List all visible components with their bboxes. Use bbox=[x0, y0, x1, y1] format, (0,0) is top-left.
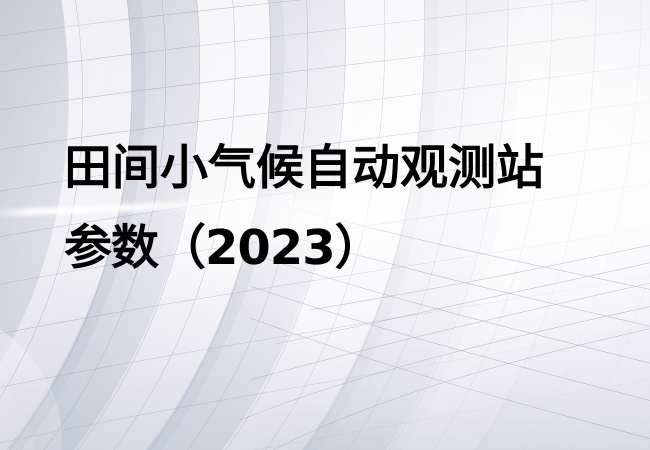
title-slide: 田间小气候自动观测站 参数（2023） bbox=[0, 0, 650, 450]
slide-title-line-2: 参数（2023） bbox=[64, 208, 624, 288]
slide-title-line-1: 田间小气候自动观测站 bbox=[64, 128, 624, 208]
slide-title-block: 田间小气候自动观测站 参数（2023） bbox=[64, 128, 624, 288]
